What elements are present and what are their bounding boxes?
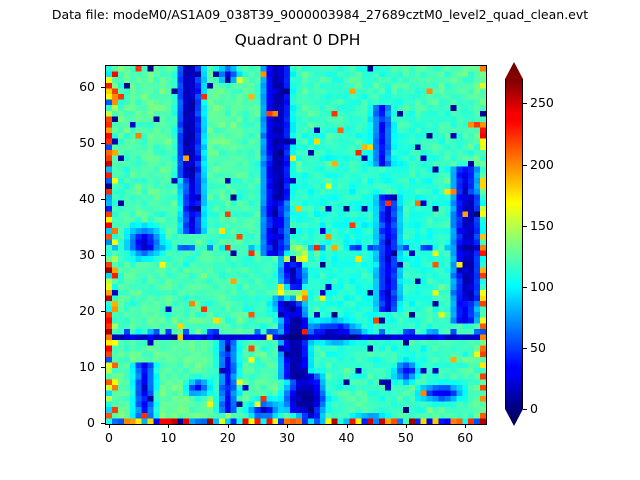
colorbar-tick [523,165,527,166]
colorbar-tick-label: 0 [530,401,590,416]
colorbar [505,62,523,426]
plot-title: Quadrant 0 DPH [0,31,595,49]
y-tick [101,87,105,88]
matplotlib-figure: Data file: modeM0/AS1A09_038T39_90000039… [0,0,640,480]
x-tick-label: 50 [376,430,436,445]
x-tick [168,424,169,428]
y-tick-label: 60 [41,79,95,94]
colorbar-tick-label: 50 [530,340,590,355]
y-tick [101,311,105,312]
y-tick-label: 20 [41,303,95,318]
y-tick-label: 50 [41,135,95,150]
x-tick [347,424,348,428]
y-tick [101,255,105,256]
x-tick [406,424,407,428]
colorbar-body [505,79,523,409]
colorbar-tick-label: 150 [530,218,590,233]
x-tick [109,424,110,428]
y-tick-label: 10 [41,359,95,374]
x-tick [465,424,466,428]
detector-heatmap-image [106,66,486,424]
x-tick-label: 30 [257,430,317,445]
colorbar-tick-label: 250 [530,95,590,110]
colorbar-tick-label: 100 [530,279,590,294]
y-tick-label: 30 [41,247,95,262]
colorbar-tick-label: 200 [530,157,590,172]
x-tick-label: 10 [138,430,198,445]
colorbar-tick [523,287,527,288]
y-tick-label: 40 [41,191,95,206]
x-tick-label: 60 [435,430,495,445]
colorbar-under-arrow-icon [505,409,523,426]
colorbar-over-arrow-icon [505,62,523,79]
y-tick [101,367,105,368]
colorbar-tick [523,226,527,227]
colorbar-tick [523,348,527,349]
colorbar-gradient [506,79,522,409]
y-tick [101,423,105,424]
y-tick-label: 0 [41,415,95,430]
x-tick-label: 0 [79,430,139,445]
x-tick-label: 40 [317,430,377,445]
heatmap-axes [105,65,487,425]
x-tick [287,424,288,428]
colorbar-tick [523,103,527,104]
colorbar-tick [523,409,527,410]
data-file-label: Data file: modeM0/AS1A09_038T39_90000039… [0,7,640,22]
y-tick [101,199,105,200]
y-tick [101,143,105,144]
x-tick-label: 20 [198,430,258,445]
x-tick [228,424,229,428]
